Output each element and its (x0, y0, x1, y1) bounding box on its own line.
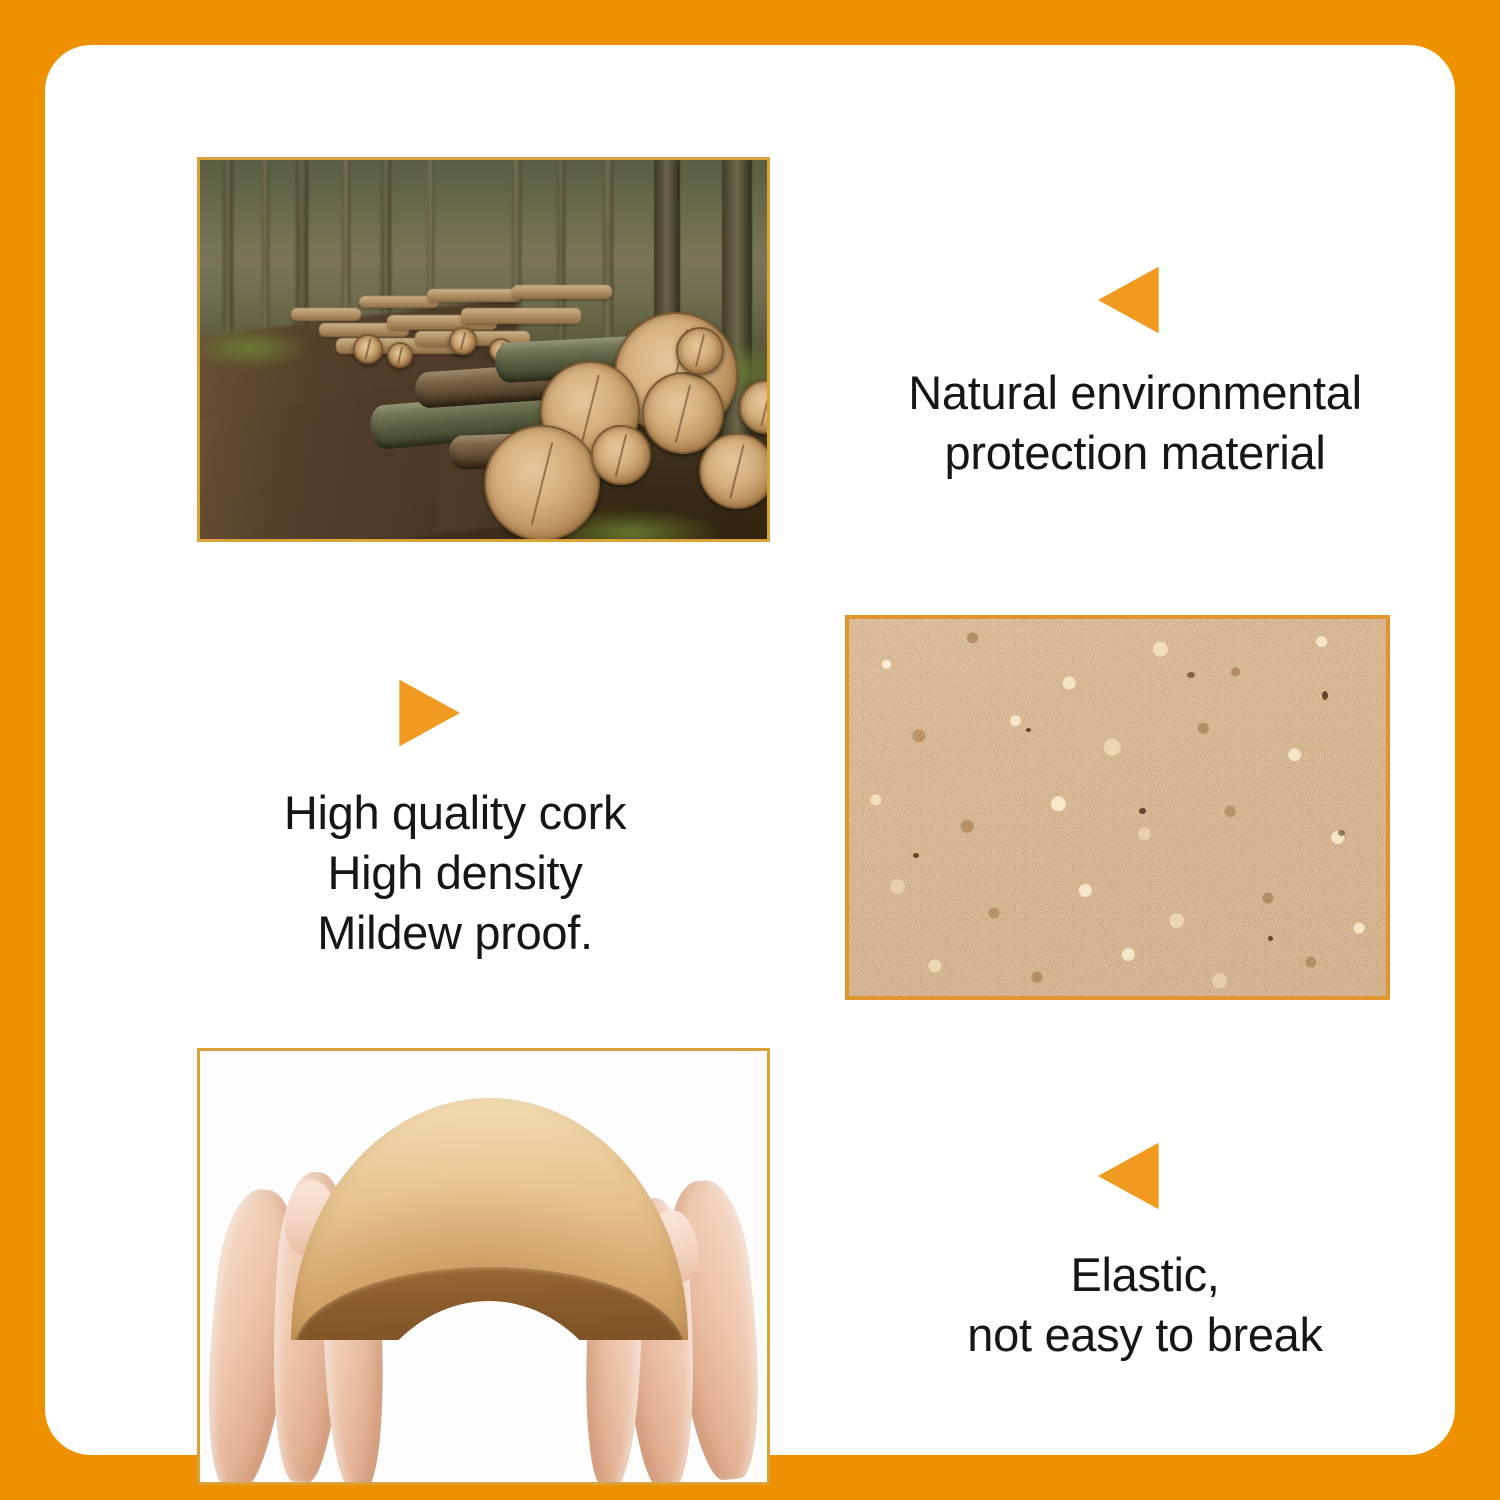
bent-cork-disc (291, 1098, 688, 1339)
infographic-page: Natural environmental protection materia… (0, 0, 1500, 1500)
feature-caption-natural: Natural environmental protection materia… (805, 363, 1465, 483)
logs-photo-scene (200, 160, 767, 539)
logs-photo (197, 157, 770, 542)
feature-caption-quality: High quality cork High density Mildew pr… (165, 783, 745, 963)
triangle-left-icon (1098, 1143, 1158, 1209)
hand-bending-cork-photo (197, 1048, 770, 1485)
cork-texture-surface (849, 619, 1386, 996)
triangle-right-icon (400, 680, 460, 746)
triangle-left-icon (1098, 267, 1158, 333)
feature-caption-elastic: Elastic, not easy to break (835, 1245, 1455, 1365)
white-content-panel: Natural environmental protection materia… (45, 45, 1455, 1455)
hand-bending-cork-scene (200, 1051, 767, 1482)
cork-texture-photo (845, 615, 1390, 1000)
